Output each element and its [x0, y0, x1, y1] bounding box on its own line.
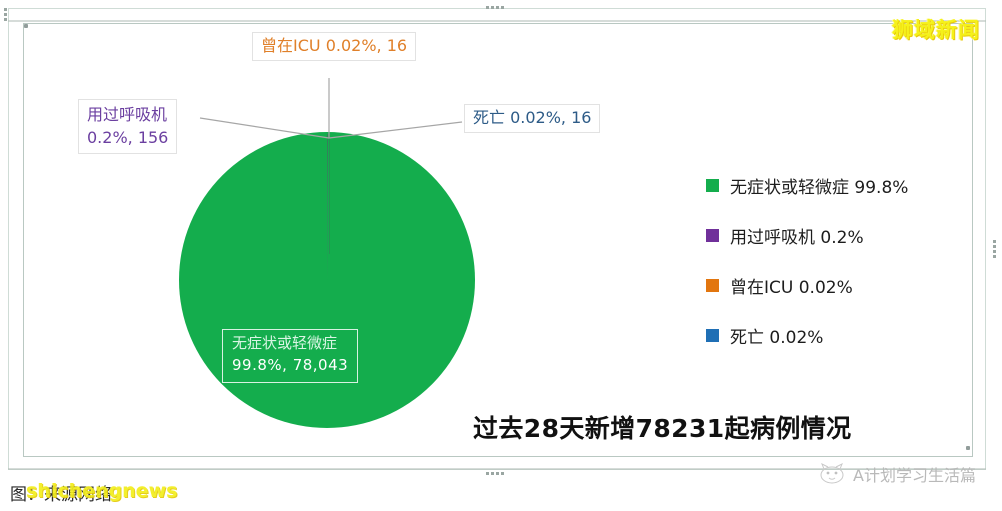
handle-bottom-right[interactable] [966, 446, 970, 450]
frame-edge-top [8, 20, 986, 22]
legend-item-death[interactable]: 死亡 0.02% [706, 310, 966, 360]
watermark-top-right: 狮域新闻 [892, 14, 980, 44]
watermark-bottom-right: A计划学习生活篇 [817, 462, 976, 486]
callout-icu[interactable]: 曾在ICU 0.02%, 16 [252, 32, 416, 61]
callout-death[interactable]: 死亡 0.02%, 16 [464, 104, 600, 133]
callout-ventilator-line2: 0.2%, 156 [87, 126, 168, 149]
callout-ventilator-line1: 用过呼吸机 [87, 103, 168, 126]
screenshot-root: 曾在ICU 0.02%, 16 用过呼吸机 0.2%, 156 死亡 0.02%… [0, 0, 1002, 511]
legend-label-death: 死亡 0.02% [730, 323, 823, 348]
callout-icu-text: 曾在ICU 0.02%, 16 [261, 36, 407, 55]
cat-face-icon [817, 463, 847, 485]
legend-swatch-icon-asymptomatic [706, 179, 719, 192]
callout-asymptomatic[interactable]: 无症状或轻微症 99.8%, 78,043 [222, 329, 358, 383]
selection-grip-right[interactable] [993, 240, 996, 258]
legend-item-asymptomatic[interactable]: 无症状或轻微症 99.8% [706, 160, 966, 210]
legend-label-ventilator: 用过呼吸机 0.2% [730, 223, 864, 248]
legend-item-icu[interactable]: 曾在ICU 0.02% [706, 260, 966, 310]
legend-item-ventilator[interactable]: 用过呼吸机 0.2% [706, 210, 966, 260]
callout-asymptomatic-line2: 99.8%, 78,043 [232, 355, 348, 377]
selection-grip-top[interactable] [486, 6, 504, 9]
callout-ventilator[interactable]: 用过呼吸机 0.2%, 156 [78, 99, 177, 154]
callout-asymptomatic-line1: 无症状或轻微症 [232, 333, 348, 355]
selection-grip-left[interactable] [4, 8, 7, 21]
legend-label-asymptomatic: 无症状或轻微症 99.8% [730, 173, 908, 198]
selection-grip-bottom[interactable] [486, 472, 504, 475]
legend-swatch-icon-icu [706, 279, 719, 292]
legend-label-icu: 曾在ICU 0.02% [730, 273, 853, 298]
legend-swatch-icon-death [706, 329, 719, 342]
handle-top-left[interactable] [24, 24, 28, 28]
watermark-bottom-right-text: A计划学习生活篇 [853, 462, 976, 486]
watermark-caption-overlay: shichengnews [26, 480, 177, 502]
chart-title: 过去28天新增78231起病例情况 [473, 409, 852, 445]
legend-swatch-icon-ventilator [706, 229, 719, 242]
chart-legend: 无症状或轻微症 99.8% 用过呼吸机 0.2% 曾在ICU 0.02% 死亡 … [706, 160, 966, 360]
callout-death-text: 死亡 0.02%, 16 [473, 108, 591, 127]
pie-slice-divider-secondary [329, 134, 330, 254]
pie-slice-divider [327, 134, 328, 282]
